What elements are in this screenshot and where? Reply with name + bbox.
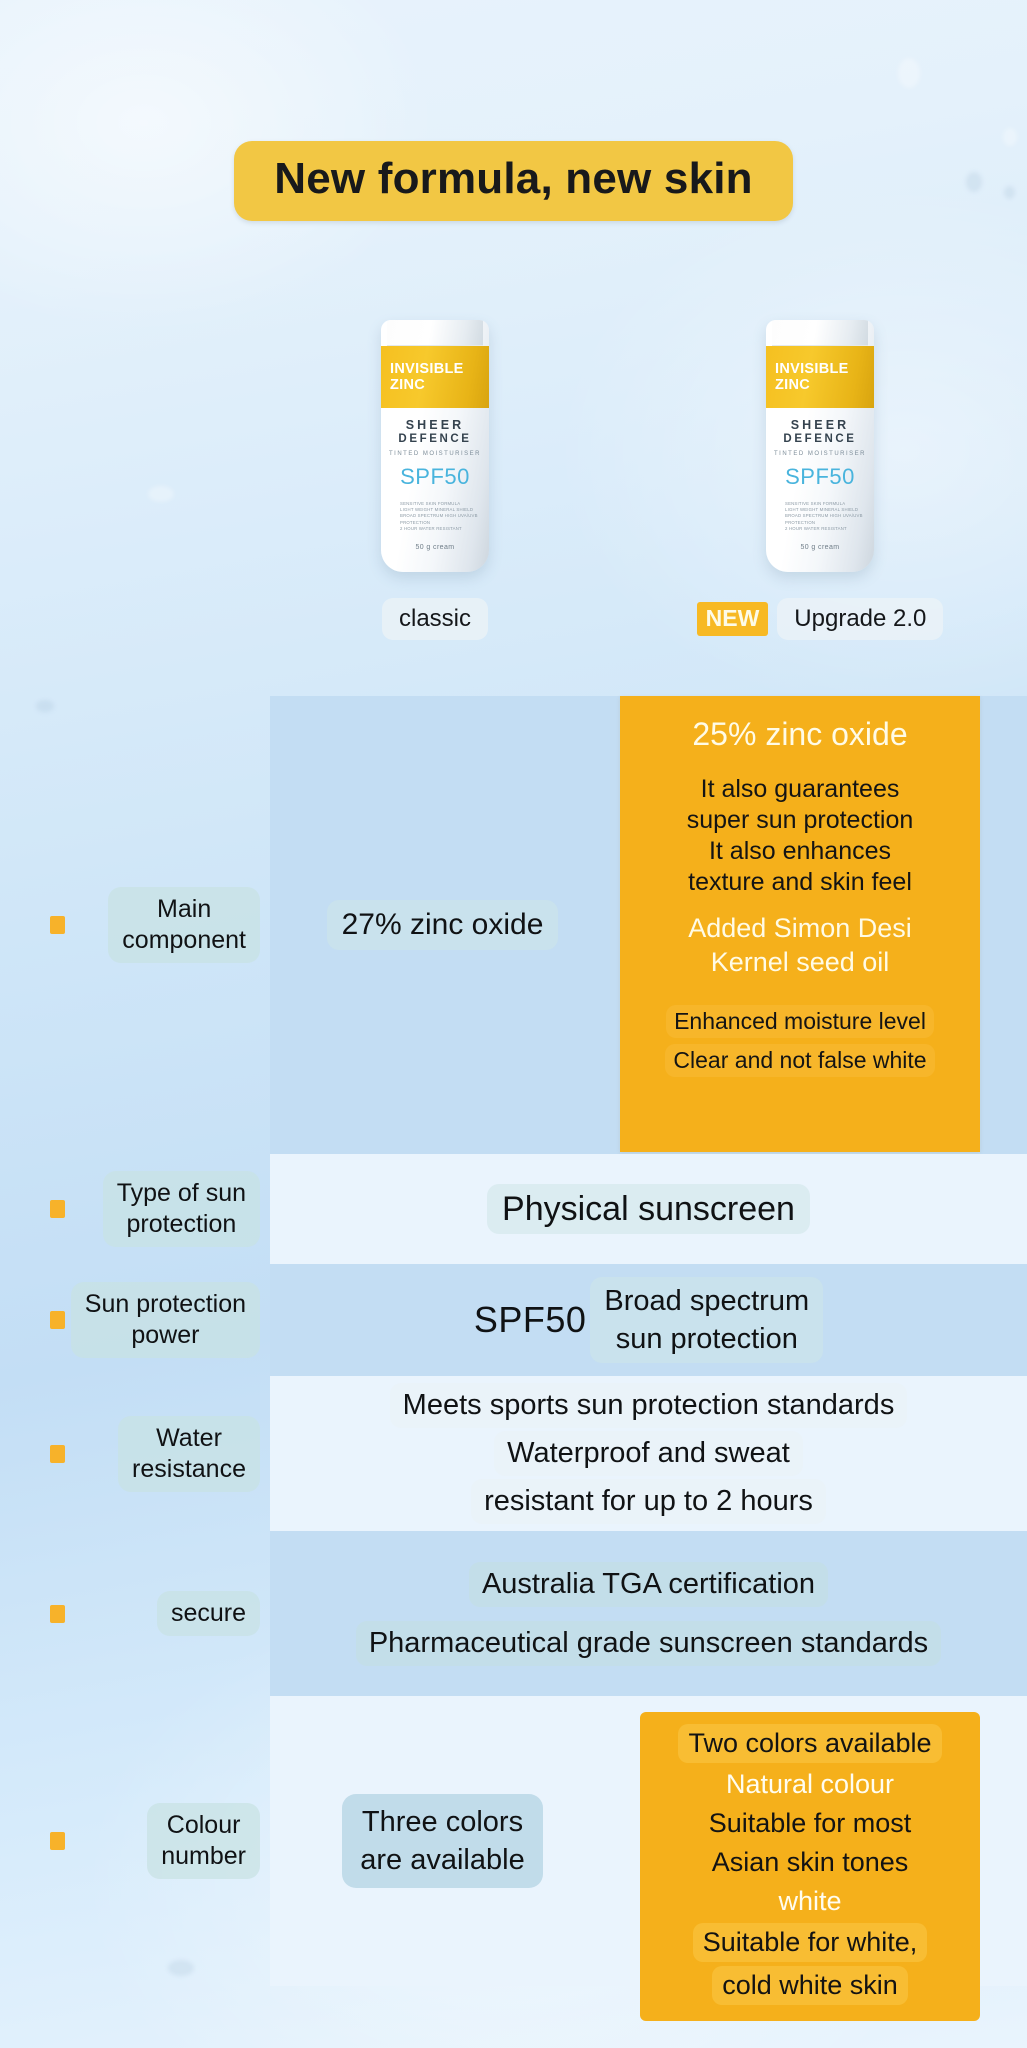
tube-descriptor: TINTED MOISTURISER xyxy=(774,451,866,457)
classic-colour-line2: are available xyxy=(360,1844,524,1876)
tube-brand-line1: INVISIBLE xyxy=(775,361,874,377)
row-body: Three colors are available Two colors av… xyxy=(270,1696,1027,1986)
tube-name-line1: SHEER xyxy=(774,418,866,432)
row-body: Physical sunscreen xyxy=(270,1154,1027,1264)
row-label-type-of-protection: Type of sun protection xyxy=(0,1154,270,1264)
tube-bullet: 2 HOUR WATER RESISTANT xyxy=(785,526,866,532)
tube-bullets: SENSITIVE SKIN FORMULA LIGHT WEIGHT MINE… xyxy=(389,501,481,532)
upgrade-colour-line5: white xyxy=(778,1884,841,1919)
bullet-square-icon xyxy=(50,1605,65,1623)
tube-bullet: 2 HOUR WATER RESISTANT xyxy=(400,526,481,532)
product-classic: INVISIBLE ZINC SHEER DEFENCE TINTED MOIS… xyxy=(360,320,510,640)
tube-name-line2: DEFENCE xyxy=(774,433,866,445)
tube-cap xyxy=(772,320,868,346)
row-label-line2: protection xyxy=(126,1210,236,1238)
row-label-line1: Main xyxy=(157,895,211,923)
row-label-line2: power xyxy=(131,1321,199,1349)
upgrade-extra-benefits: Enhanced moisture level Clear and not fa… xyxy=(665,1005,934,1077)
upgrade-colour-line2: Natural colour xyxy=(726,1767,894,1802)
upgrade-colour-line1: Two colors available xyxy=(678,1724,941,1763)
tube-brand-line2: ZINC xyxy=(390,377,489,393)
tube-brand-band: INVISIBLE ZINC xyxy=(766,346,874,408)
row-label-text: Water resistance xyxy=(118,1416,260,1492)
tube-body: SHEER DEFENCE TINTED MOISTURISER SPF50 S… xyxy=(381,408,489,572)
upgrade-ingredient-line2: Kernel seed oil xyxy=(711,947,890,977)
row-label-colour-number: Colour number xyxy=(0,1696,270,1986)
table-row-colour-number: Colour number Three colors are available… xyxy=(0,1696,1027,1986)
cell-shared-type-of-protection: Physical sunscreen xyxy=(270,1154,1027,1264)
row-body: SPF50 Broad spectrum sun protection xyxy=(270,1264,1027,1376)
upgrade-ingredient-highlight: Added Simon Desi Kernel seed oil xyxy=(688,911,912,979)
tube-spf: SPF50 xyxy=(389,464,481,490)
row-label-line1: Colour xyxy=(167,1811,241,1839)
upgrade-ingredient-line1: Added Simon Desi xyxy=(688,913,912,943)
table-row-protection-power: Sun protection power SPF50 Broad spectru… xyxy=(0,1264,1027,1376)
row-body: Meets sports sun protection standards Wa… xyxy=(270,1376,1027,1531)
product-caption-upgrade: NEW Upgrade 2.0 xyxy=(745,598,895,640)
row-label-text: Sun protection power xyxy=(71,1282,260,1358)
tube-net-weight: 50 g cream xyxy=(389,544,481,551)
bullet-square-icon xyxy=(50,1445,65,1463)
tube-descriptor: TINTED MOISTURISER xyxy=(389,451,481,457)
bullet-square-icon xyxy=(50,1200,65,1218)
bullet-square-icon xyxy=(50,1311,65,1329)
product-tube-classic: INVISIBLE ZINC SHEER DEFENCE TINTED MOIS… xyxy=(381,320,489,572)
row-label-main-component: Main component xyxy=(0,696,270,1154)
title-banner: New formula, new skin xyxy=(0,141,1027,221)
tube-bullet: BROAD SPECTRUM HIGH UVA/UVB PROTECTION xyxy=(400,513,481,525)
bullet-square-icon xyxy=(50,916,65,934)
row-label-line2: component xyxy=(122,926,246,954)
row-label-line2: resistance xyxy=(132,1455,246,1483)
row-label-line1: Sun protection xyxy=(85,1290,246,1318)
protection-power-note-line2: sun protection xyxy=(616,1323,798,1355)
caption-label-upgrade: Upgrade 2.0 xyxy=(777,598,943,640)
caption-label-classic: classic xyxy=(382,598,488,640)
product-showcase: INVISIBLE ZINC SHEER DEFENCE TINTED MOIS… xyxy=(0,320,1027,680)
row-body: 27% zinc oxide 25% zinc oxide It also gu… xyxy=(270,696,1027,1154)
cell-classic-colour-number: Three colors are available xyxy=(270,1696,615,1986)
row-label-water-resistance: Water resistance xyxy=(0,1376,270,1531)
table-row-secure: secure Australia TGA certification Pharm… xyxy=(0,1531,1027,1696)
row-label-text: secure xyxy=(157,1591,260,1636)
product-tube-upgrade: INVISIBLE ZINC SHEER DEFENCE TINTED MOIS… xyxy=(766,320,874,572)
type-of-protection-value: Physical sunscreen xyxy=(487,1184,810,1234)
row-label-secure: secure xyxy=(0,1531,270,1696)
secure-value: Australia TGA certification Pharmaceutic… xyxy=(356,1562,941,1666)
tube-brand-line2: ZINC xyxy=(775,377,874,393)
bg-blob xyxy=(898,58,920,88)
upgrade-benefit-line3: It also enhances xyxy=(709,837,891,865)
water-resistance-value: Meets sports sun protection standards Wa… xyxy=(390,1383,908,1524)
classic-main-component-value: 27% zinc oxide xyxy=(327,900,559,950)
cell-shared-protection-power: SPF50 Broad spectrum sun protection xyxy=(270,1264,1027,1376)
comparison-table: Main component 27% zinc oxide 25% zinc o… xyxy=(0,696,1027,1986)
table-row-water-resistance: Water resistance Meets sports sun protec… xyxy=(0,1376,1027,1531)
water-resistance-line1: Meets sports sun protection standards xyxy=(390,1383,908,1428)
row-label-protection-power: Sun protection power xyxy=(0,1264,270,1376)
tube-bullets: SENSITIVE SKIN FORMULA LIGHT WEIGHT MINE… xyxy=(774,501,866,532)
row-label-line1: Type of sun xyxy=(117,1179,246,1207)
tube-cap xyxy=(387,320,483,346)
row-label-text: Main component xyxy=(108,887,260,963)
cell-shared-secure: Australia TGA certification Pharmaceutic… xyxy=(270,1531,1027,1696)
water-resistance-line3: resistant for up to 2 hours xyxy=(471,1479,826,1524)
classic-colour-value: Three colors are available xyxy=(342,1794,542,1888)
tube-spf: SPF50 xyxy=(774,464,866,490)
upgrade-extra-line2: Clear and not false white xyxy=(665,1044,934,1077)
tube-name-line1: SHEER xyxy=(389,418,481,432)
tube-brand-line1: INVISIBLE xyxy=(390,361,489,377)
upgrade-colour-panel: Two colors available Natural colour Suit… xyxy=(640,1712,980,2021)
row-label-text: Colour number xyxy=(147,1803,260,1879)
tube-body: SHEER DEFENCE TINTED MOISTURISER SPF50 S… xyxy=(766,408,874,572)
protection-power-note-line1: Broad spectrum xyxy=(604,1285,809,1317)
secure-line1: Australia TGA certification xyxy=(469,1562,828,1607)
page-title: New formula, new skin xyxy=(234,141,793,221)
product-upgrade: INVISIBLE ZINC SHEER DEFENCE TINTED MOIS… xyxy=(745,320,895,640)
upgrade-colour-line3: Suitable for most xyxy=(709,1806,912,1841)
new-badge: NEW xyxy=(697,602,769,636)
upgrade-highlight-panel: 25% zinc oxide It also guarantees super … xyxy=(620,696,980,1152)
upgrade-colour-line7: cold white skin xyxy=(712,1966,908,2005)
protection-power-note: Broad spectrum sun protection xyxy=(590,1277,823,1363)
tube-net-weight: 50 g cream xyxy=(774,544,866,551)
protection-power-value: SPF50 Broad spectrum sun protection xyxy=(474,1277,823,1363)
upgrade-heading: 25% zinc oxide xyxy=(692,714,907,754)
product-caption-classic: classic xyxy=(360,598,510,640)
row-label-line1: Water xyxy=(156,1424,222,1452)
table-row-type-of-protection: Type of sun protection Physical sunscree… xyxy=(0,1154,1027,1264)
upgrade-benefit-line4: texture and skin feel xyxy=(688,868,912,896)
upgrade-benefit-line2: super sun protection xyxy=(687,806,914,834)
tube-brand-band: INVISIBLE ZINC xyxy=(381,346,489,408)
bullet-square-icon xyxy=(50,1832,65,1850)
tube-bullet: BROAD SPECTRUM HIGH UVA/UVB PROTECTION xyxy=(785,513,866,525)
secure-line2: Pharmaceutical grade sunscreen standards xyxy=(356,1621,941,1666)
upgrade-benefits: It also guarantees super sun protection … xyxy=(687,774,914,898)
protection-power-spf: SPF50 xyxy=(474,1299,587,1341)
water-resistance-line2: Waterproof and sweat xyxy=(494,1431,803,1476)
upgrade-colour-line6: Suitable for white, xyxy=(693,1923,928,1962)
upgrade-benefit-line1: It also guarantees xyxy=(701,775,900,803)
cell-classic-main-component: 27% zinc oxide xyxy=(270,696,615,1154)
table-row-main-component: Main component 27% zinc oxide 25% zinc o… xyxy=(0,696,1027,1154)
classic-colour-line1: Three colors xyxy=(362,1806,523,1838)
upgrade-extra-line1: Enhanced moisture level xyxy=(666,1005,934,1038)
upgrade-colour-line4: Asian skin tones xyxy=(712,1845,909,1880)
tube-name-line2: DEFENCE xyxy=(389,433,481,445)
row-body: Australia TGA certification Pharmaceutic… xyxy=(270,1531,1027,1696)
cell-shared-water-resistance: Meets sports sun protection standards Wa… xyxy=(270,1376,1027,1531)
infographic-page: New formula, new skin INVISIBLE ZINC SHE… xyxy=(0,0,1027,2048)
row-label-text: Type of sun protection xyxy=(103,1171,260,1247)
row-label-line2: number xyxy=(161,1842,246,1870)
